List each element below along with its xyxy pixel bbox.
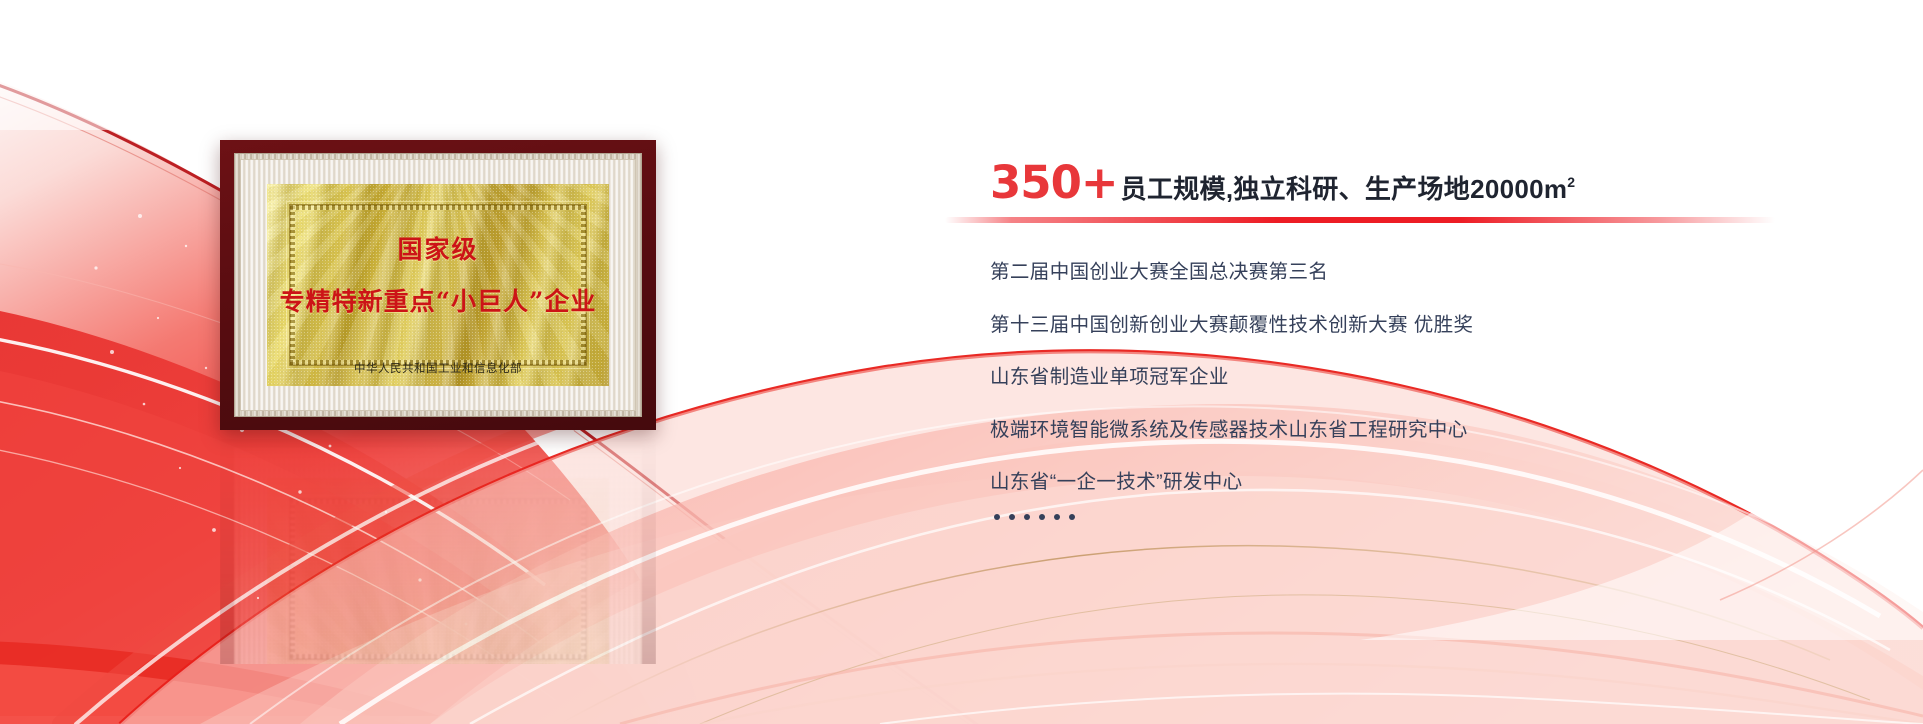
ellipsis-dot — [1009, 514, 1015, 520]
plaque-issuer: 中华人民共和国工业和信息化部 — [354, 360, 522, 376]
honor-item: 山东省“一企一技术”研发中心 — [990, 473, 1850, 493]
honor-list: 第二届中国创业大赛全国总决赛第三名 第十三届中国创新创业大赛颠覆性技术创新大赛 … — [990, 263, 1850, 493]
reflection-ornamental-border — [289, 498, 587, 660]
reflection-outer-frame — [220, 434, 656, 664]
headline-metric-text: 员工规模,独立科研、生产场地20000m — [1121, 176, 1568, 202]
honor-item: 第十三届中国创新创业大赛颠覆性技术创新大赛 优胜奖 — [990, 316, 1850, 336]
content-panel: 350+ 员工规模,独立科研、生产场地20000m 2 第二届中国创业大赛全国总… — [990, 160, 1850, 520]
honor-list-ellipsis — [994, 514, 1850, 520]
plaque-silver-inner-border: 国家级 专精特新重点“小巨人”企业 中华人民共和国工业和信息化部 2024年12… — [240, 159, 636, 411]
headline-metric-number: 350+ — [990, 160, 1118, 205]
plaque-reflection-inner — [220, 434, 656, 664]
reflection-gold-rays — [267, 478, 609, 664]
plaque-reflection — [220, 434, 656, 664]
ellipsis-dot — [994, 514, 1000, 520]
ellipsis-dot — [1054, 514, 1060, 520]
banner-stage: 国家级 专精特新重点“小巨人”企业 中华人民共和国工业和信息化部 2024年12… — [0, 0, 1923, 724]
plaque-text-block: 国家级 专精特新重点“小巨人”企业 中华人民共和国工业和信息化部 2024年12… — [267, 184, 609, 386]
ellipsis-dot — [1024, 514, 1030, 520]
reflection-gold-face — [267, 478, 609, 664]
headline-superscript: 2 — [1567, 174, 1575, 190]
plaque-silver-border: 国家级 专精特新重点“小巨人”企业 中华人民共和国工业和信息化部 2024年12… — [234, 153, 642, 417]
reflection-gold-texture — [267, 478, 609, 664]
plaque-gold-face: 国家级 专精特新重点“小巨人”企业 中华人民共和国工业和信息化部 2024年12… — [267, 184, 609, 386]
honor-item: 山东省制造业单项冠军企业 — [990, 368, 1850, 388]
honor-item: 极端环境智能微系统及传感器技术山东省工程研究中心 — [990, 421, 1850, 441]
plaque-outer-frame: 国家级 专精特新重点“小巨人”企业 中华人民共和国工业和信息化部 2024年12… — [220, 140, 656, 430]
plaque-title-line2: 专精特新重点“小巨人”企业 — [280, 282, 597, 318]
ellipsis-dot — [1039, 514, 1045, 520]
headline: 350+ 员工规模,独立科研、生产场地20000m 2 — [990, 160, 1850, 205]
reflection-silver-border — [234, 447, 642, 664]
reflection-silver-inner-border — [240, 453, 636, 664]
honor-item: 第二届中国创业大赛全国总决赛第三名 — [990, 263, 1850, 283]
plaque-title-line1: 国家级 — [397, 230, 478, 266]
headline-divider — [945, 217, 1775, 223]
award-plaque: 国家级 专精特新重点“小巨人”企业 中华人民共和国工业和信息化部 2024年12… — [220, 140, 656, 430]
ellipsis-dot — [1069, 514, 1075, 520]
